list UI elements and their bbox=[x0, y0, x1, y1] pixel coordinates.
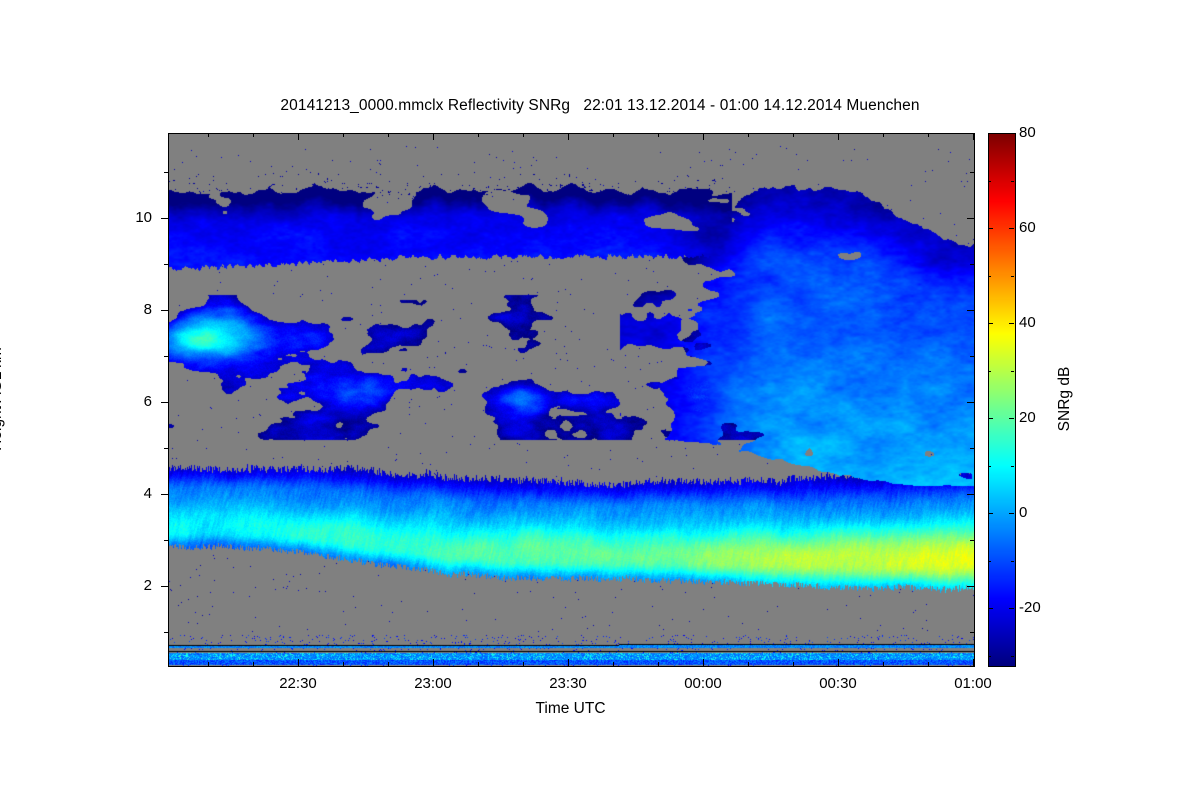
x-tick-label: 23:30 bbox=[518, 676, 618, 691]
x-axis-minor-tick bbox=[523, 662, 524, 666]
x-axis-tick-top bbox=[568, 133, 569, 140]
x-axis-tick-top bbox=[703, 133, 704, 140]
y-axis-minor-tick bbox=[164, 632, 168, 633]
x-tick-label: 01:00 bbox=[923, 676, 1023, 691]
y-tick-label: 10 bbox=[92, 210, 152, 225]
y-tick-label: 4 bbox=[92, 486, 152, 501]
colorbar-tick bbox=[1009, 323, 1014, 324]
y-axis-minor-tick bbox=[164, 540, 168, 541]
y-axis-minor-tick-right bbox=[970, 356, 974, 357]
x-axis-minor-tick bbox=[208, 662, 209, 666]
x-axis-minor-tick-top bbox=[343, 133, 344, 137]
y-axis-minor-tick bbox=[164, 264, 168, 265]
colorbar-minor-tick-left bbox=[988, 276, 991, 277]
colorbar-tick bbox=[1009, 228, 1014, 229]
colorbar-gradient bbox=[989, 134, 1015, 666]
page-title: 20141213_0000.mmclx Reflectivity SNRg 22… bbox=[0, 97, 1200, 115]
x-axis-minor-tick bbox=[928, 662, 929, 666]
colorbar-minor-tick-left bbox=[988, 466, 991, 467]
y-axis-minor-tick-right bbox=[970, 540, 974, 541]
x-axis-tick-top bbox=[838, 133, 839, 140]
x-axis-minor-tick-top bbox=[658, 133, 659, 137]
y-axis-minor-tick-right bbox=[970, 264, 974, 265]
y-tick-label: 8 bbox=[92, 302, 152, 317]
x-axis-minor-tick bbox=[748, 662, 749, 666]
y-axis-minor-tick-right bbox=[970, 632, 974, 633]
x-axis-tick bbox=[433, 659, 434, 666]
x-axis-minor-tick-top bbox=[253, 133, 254, 137]
colorbar-title: SNRg dB bbox=[1056, 299, 1074, 499]
colorbar-tick bbox=[1009, 513, 1014, 514]
y-axis-tick-right bbox=[967, 494, 974, 495]
figure-canvas: 20141213_0000.mmclx Reflectivity SNRg 22… bbox=[0, 0, 1200, 800]
colorbar-tick bbox=[1009, 418, 1014, 419]
colorbar-minor-tick-left bbox=[988, 656, 991, 657]
y-axis-tick bbox=[161, 402, 168, 403]
colorbar-tick-left bbox=[988, 133, 993, 134]
x-axis-tick bbox=[298, 659, 299, 666]
y-axis-tick bbox=[161, 310, 168, 311]
y-axis-title: Height AGL km bbox=[0, 279, 6, 519]
x-axis-tick bbox=[838, 659, 839, 666]
colorbar-minor-tick bbox=[1011, 561, 1014, 562]
x-axis-tick bbox=[568, 659, 569, 666]
y-axis-minor-tick bbox=[164, 356, 168, 357]
y-tick-label: 2 bbox=[92, 578, 152, 593]
colorbar-tick bbox=[1009, 608, 1014, 609]
y-axis-minor-tick-right bbox=[970, 448, 974, 449]
x-axis-minor-tick-top bbox=[478, 133, 479, 137]
colorbar[interactable] bbox=[988, 133, 1016, 667]
x-axis-minor-tick-top bbox=[613, 133, 614, 137]
x-axis-minor-tick bbox=[883, 662, 884, 666]
colorbar-tick bbox=[1009, 133, 1014, 134]
x-axis-minor-tick-top bbox=[883, 133, 884, 137]
x-tick-label: 00:00 bbox=[653, 676, 753, 691]
x-axis-minor-tick bbox=[793, 662, 794, 666]
colorbar-minor-tick-left bbox=[988, 181, 991, 182]
y-tick-label: 6 bbox=[92, 394, 152, 409]
colorbar-tick-left bbox=[988, 323, 993, 324]
x-axis-minor-tick-top bbox=[388, 133, 389, 137]
x-axis-minor-tick-top bbox=[523, 133, 524, 137]
colorbar-tick-label: 80 bbox=[1019, 125, 1079, 140]
colorbar-minor-tick bbox=[1011, 371, 1014, 372]
x-axis-minor-tick bbox=[658, 662, 659, 666]
colorbar-tick-left bbox=[988, 608, 993, 609]
x-axis-tick bbox=[703, 659, 704, 666]
colorbar-tick-label: 0 bbox=[1019, 505, 1079, 520]
y-axis-tick bbox=[161, 218, 168, 219]
x-axis-minor-tick-top bbox=[748, 133, 749, 137]
x-tick-label: 00:30 bbox=[788, 676, 888, 691]
x-axis-tick-top bbox=[433, 133, 434, 140]
x-axis-minor-tick-top bbox=[793, 133, 794, 137]
colorbar-minor-tick-left bbox=[988, 561, 991, 562]
x-axis-minor-tick-top bbox=[928, 133, 929, 137]
y-axis-tick bbox=[161, 494, 168, 495]
x-axis-tick bbox=[973, 659, 974, 666]
reflectivity-heatmap-canvas bbox=[169, 134, 974, 666]
colorbar-tick-left bbox=[988, 513, 993, 514]
colorbar-minor-tick bbox=[1011, 276, 1014, 277]
colorbar-minor-tick bbox=[1011, 466, 1014, 467]
colorbar-minor-tick bbox=[1011, 656, 1014, 657]
x-axis-tick-top bbox=[298, 133, 299, 140]
y-axis-tick-right bbox=[967, 218, 974, 219]
y-axis-tick-right bbox=[967, 586, 974, 587]
x-axis-minor-tick bbox=[478, 662, 479, 666]
colorbar-tick-left bbox=[988, 418, 993, 419]
colorbar-tick-label: -20 bbox=[1019, 600, 1079, 615]
x-axis-minor-tick bbox=[613, 662, 614, 666]
y-axis-tick-right bbox=[967, 310, 974, 311]
x-tick-label: 22:30 bbox=[248, 676, 348, 691]
x-axis-minor-tick bbox=[253, 662, 254, 666]
colorbar-minor-tick-left bbox=[988, 371, 991, 372]
y-axis-tick-right bbox=[967, 402, 974, 403]
x-tick-label: 23:00 bbox=[383, 676, 483, 691]
x-axis-title: Time UTC bbox=[168, 700, 973, 718]
x-axis-minor-tick bbox=[388, 662, 389, 666]
y-axis-minor-tick bbox=[164, 172, 168, 173]
y-axis-minor-tick-right bbox=[970, 172, 974, 173]
x-axis-minor-tick-top bbox=[208, 133, 209, 137]
x-axis-minor-tick bbox=[343, 662, 344, 666]
reflectivity-heatmap-axes[interactable] bbox=[168, 133, 975, 667]
colorbar-tick-left bbox=[988, 228, 993, 229]
y-axis-minor-tick bbox=[164, 448, 168, 449]
colorbar-tick-label: 60 bbox=[1019, 220, 1079, 235]
colorbar-minor-tick bbox=[1011, 181, 1014, 182]
y-axis-tick bbox=[161, 586, 168, 587]
x-axis-tick-top bbox=[973, 133, 974, 140]
